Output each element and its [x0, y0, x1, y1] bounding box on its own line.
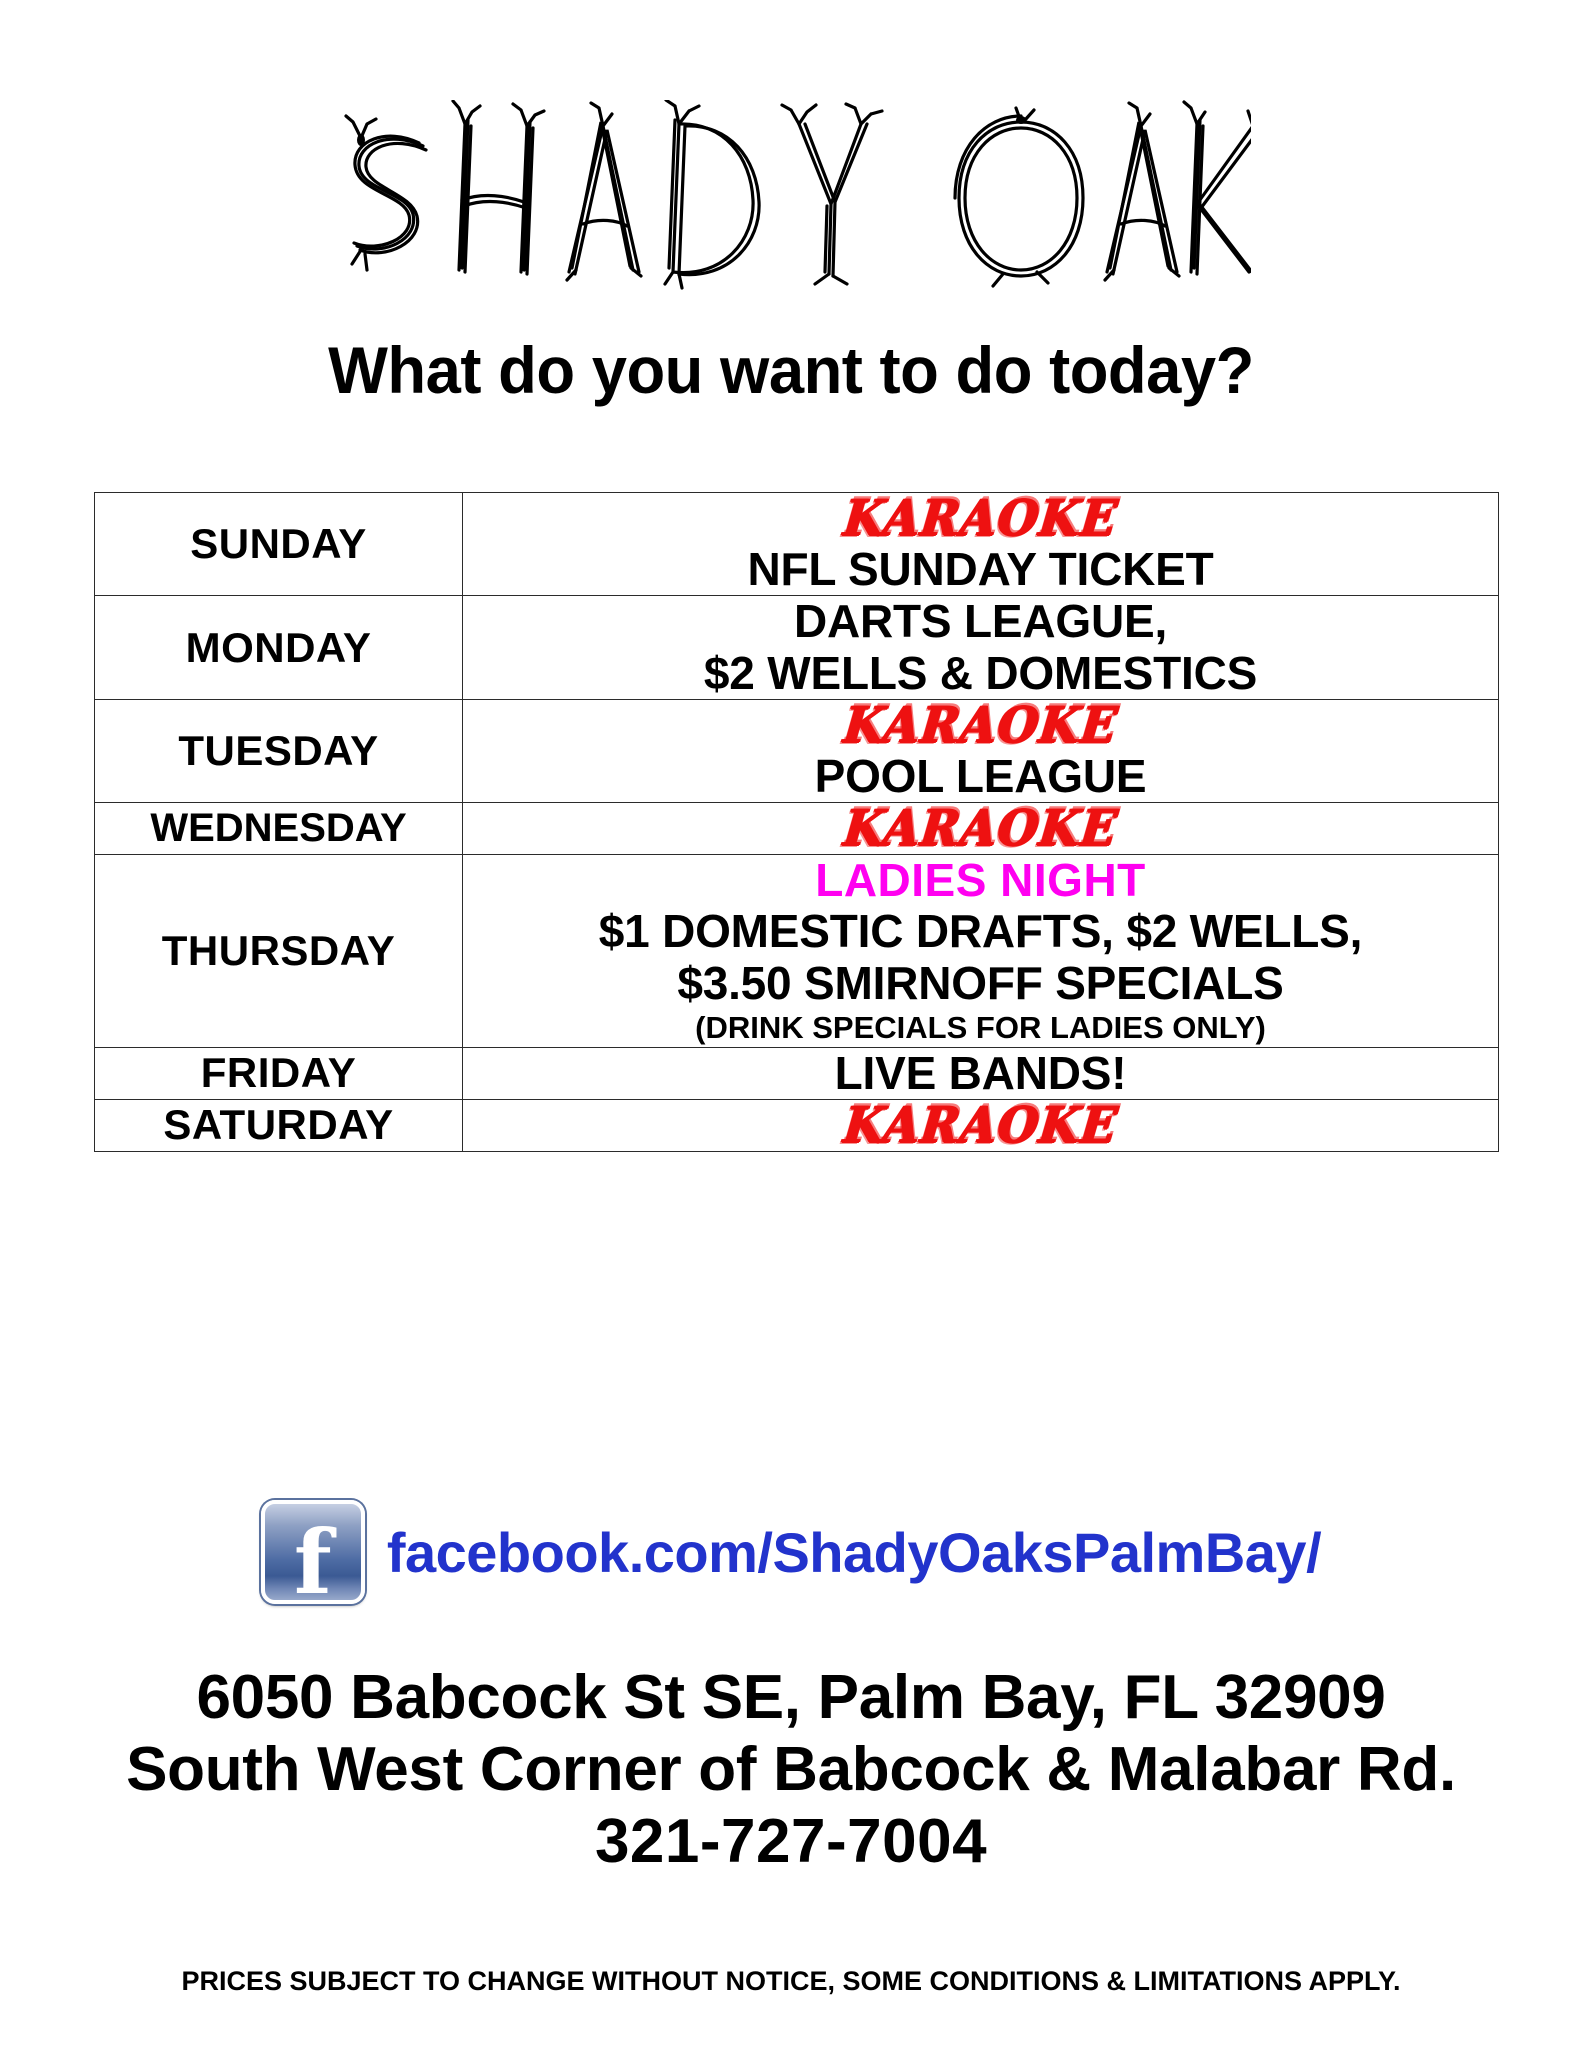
events-saturday: KARAOKE: [463, 1100, 1499, 1152]
day-label-monday: MONDAY: [95, 596, 463, 700]
event-line: NFL SUNDAY TICKET: [463, 544, 1498, 596]
address-block: 6050 Babcock St SE, Palm Bay, FL 32909 S…: [0, 1662, 1582, 1878]
table-row: SUNDAY KARAOKE NFL SUNDAY TICKET: [95, 493, 1499, 596]
logo-twig-lettering: [331, 100, 1251, 300]
events-thursday: LADIES NIGHT $1 DOMESTIC DRAFTS, $2 WELL…: [463, 854, 1499, 1047]
event-line: $2 WELLS & DOMESTICS: [463, 648, 1498, 700]
event-note: (DRINK SPECIALS FOR LADIES ONLY): [463, 1009, 1498, 1046]
event-line: POOL LEAGUE: [463, 751, 1498, 803]
event-karaoke: KARAOKE: [842, 491, 1121, 546]
events-monday: DARTS LEAGUE, $2 WELLS & DOMESTICS: [463, 596, 1499, 700]
events-wednesday: KARAOKE: [463, 803, 1499, 855]
flyer-page: What do you want to do today? SUNDAY KAR…: [0, 0, 1582, 2048]
table-row: SATURDAY KARAOKE: [95, 1100, 1499, 1152]
schedule-body: SUNDAY KARAOKE NFL SUNDAY TICKET MONDAY …: [95, 493, 1499, 1152]
table-row: TUESDAY KARAOKE POOL LEAGUE: [95, 700, 1499, 803]
day-label-saturday: SATURDAY: [95, 1100, 463, 1152]
day-label-wednesday: WEDNESDAY: [95, 803, 463, 855]
table-row: FRIDAY LIVE BANDS!: [95, 1047, 1499, 1100]
table-row: MONDAY DARTS LEAGUE, $2 WELLS & DOMESTIC…: [95, 596, 1499, 700]
phone-number[interactable]: 321-727-7004: [0, 1806, 1582, 1878]
events-tuesday: KARAOKE POOL LEAGUE: [463, 700, 1499, 803]
event-line: $3.50 SMIRNOFF SPECIALS: [463, 958, 1498, 1010]
event-karaoke: KARAOKE: [842, 801, 1121, 856]
event-line: DARTS LEAGUE,: [463, 596, 1498, 648]
event-line: LIVE BANDS!: [463, 1048, 1498, 1100]
shady-oaks-logo: [0, 70, 1582, 330]
event-ladies-night: LADIES NIGHT: [463, 855, 1498, 907]
table-row: THURSDAY LADIES NIGHT $1 DOMESTIC DRAFTS…: [95, 854, 1499, 1047]
day-label-tuesday: TUESDAY: [95, 700, 463, 803]
facebook-icon[interactable]: f: [261, 1500, 365, 1604]
table-row: WEDNESDAY KARAOKE: [95, 803, 1499, 855]
disclaimer-text: PRICES SUBJECT TO CHANGE WITHOUT NOTICE,…: [0, 1966, 1582, 1997]
facebook-url-text[interactable]: facebook.com/ShadyOaksPalmBay/: [387, 1520, 1321, 1585]
day-label-sunday: SUNDAY: [95, 493, 463, 596]
facebook-f-glyph: f: [265, 1518, 361, 1606]
facebook-link-row[interactable]: f facebook.com/ShadyOaksPalmBay/: [0, 1500, 1582, 1604]
day-label-friday: FRIDAY: [95, 1047, 463, 1100]
weekly-schedule-table: SUNDAY KARAOKE NFL SUNDAY TICKET MONDAY …: [94, 492, 1499, 1152]
day-label-thursday: THURSDAY: [95, 854, 463, 1047]
address-line-2: South West Corner of Babcock & Malabar R…: [0, 1734, 1582, 1806]
event-line: $1 DOMESTIC DRAFTS, $2 WELLS,: [463, 906, 1498, 958]
event-karaoke: KARAOKE: [842, 1098, 1121, 1153]
page-tagline: What do you want to do today?: [32, 337, 1551, 404]
events-friday: LIVE BANDS!: [463, 1047, 1499, 1100]
address-line-1: 6050 Babcock St SE, Palm Bay, FL 32909: [0, 1662, 1582, 1734]
event-karaoke: KARAOKE: [842, 698, 1121, 753]
events-sunday: KARAOKE NFL SUNDAY TICKET: [463, 493, 1499, 596]
